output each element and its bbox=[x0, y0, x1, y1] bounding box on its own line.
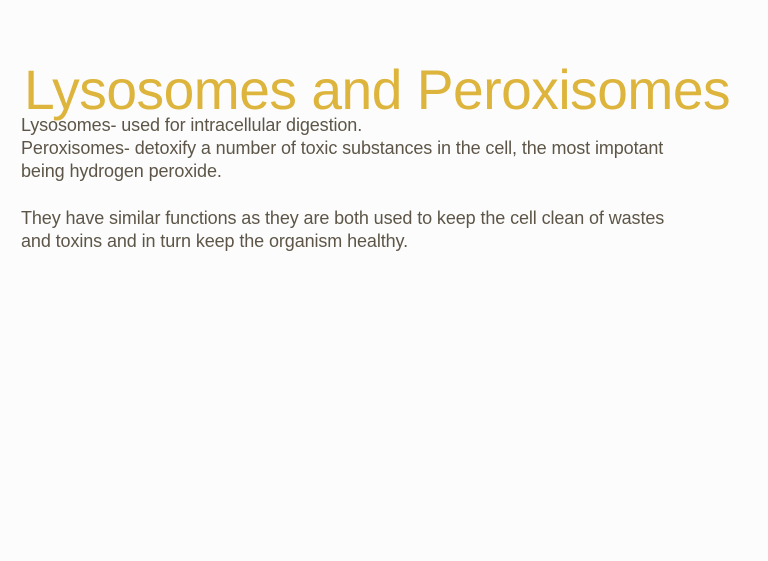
paragraph-similarities-line-1: They have similar functions as they are … bbox=[21, 207, 747, 230]
paragraph-definitions-line-2: Peroxisomes- detoxify a number of toxic … bbox=[21, 137, 747, 160]
slide-canvas: Lysosomes and Peroxisomes Lysosomes- use… bbox=[0, 0, 768, 561]
paragraph-similarities: They have similar functions as they are … bbox=[21, 207, 747, 253]
paragraph-definitions: Lysosomes- used for intracellular digest… bbox=[21, 114, 747, 184]
paragraph-spacer bbox=[21, 184, 747, 207]
slide-body-text: Lysosomes- used for intracellular digest… bbox=[21, 114, 747, 253]
paragraph-definitions-line-1: Lysosomes- used for intracellular digest… bbox=[21, 114, 747, 137]
page-title: Lysosomes and Peroxisomes bbox=[24, 60, 743, 120]
paragraph-definitions-line-3: being hydrogen peroxide. bbox=[21, 160, 747, 183]
paragraph-similarities-line-2: and toxins and in turn keep the organism… bbox=[21, 230, 747, 253]
